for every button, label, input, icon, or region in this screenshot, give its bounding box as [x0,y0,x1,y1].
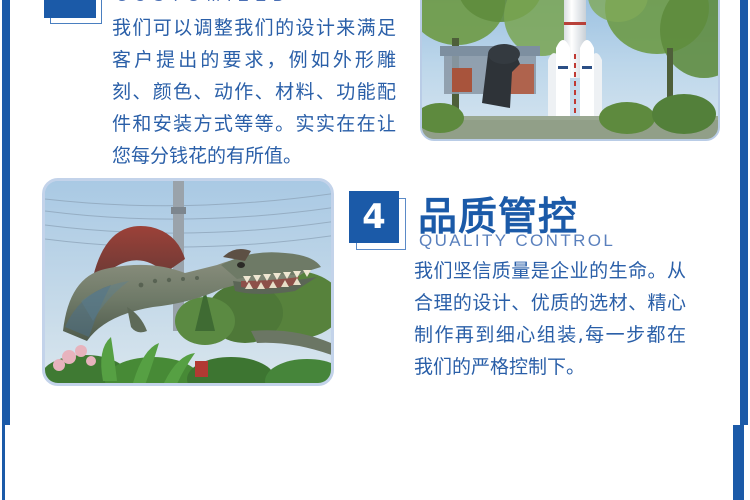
dinosaur-photo-illustration [45,181,334,386]
section3-number-badge [44,0,96,18]
rocket-photo-illustration [422,0,720,141]
section4-body-text: 我们坚信质量是企业的生命。从合理的设计、优质的选材、精心制作再到细心组装,每一步… [414,255,686,383]
section4-photo-dinosaur [42,178,334,386]
section3-body-text: 我们可以调整我们的设计来满足客户提出的要求，例如外形雕刻、颜色、动作、材料、功能… [112,12,396,172]
section4-eyebrow: QUALITY CONTROL [419,231,615,251]
page-frame-left-rail-lower [2,425,5,500]
page-frame-right-rail-lower [733,425,744,500]
page-frame-left-rail [2,0,10,425]
section3-photo-rocket [420,0,720,141]
section3-eyebrow: CUSTOMIZED [116,0,291,6]
product-detail-page: CUSTOMIZED 我们可以调整我们的设计来满足客户提出的要求，例如外形雕刻、… [0,0,750,500]
section4-number-badge: 4 [349,191,399,243]
page-frame-right-rail [740,0,748,425]
